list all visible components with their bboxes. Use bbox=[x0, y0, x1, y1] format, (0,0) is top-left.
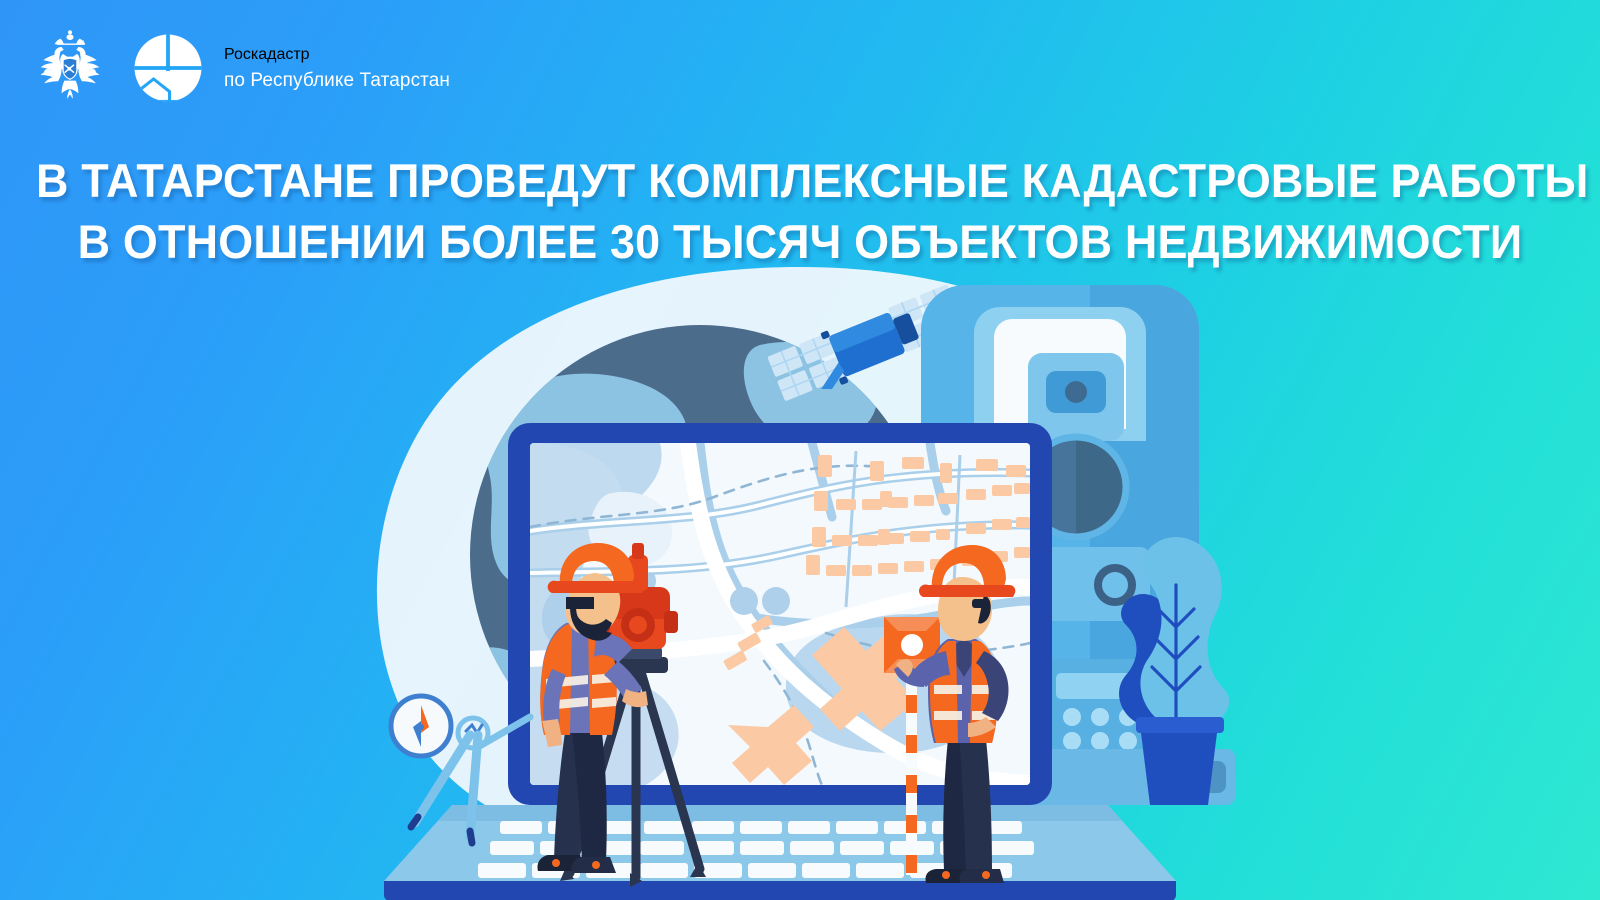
brand-logo: Роскадастр по Республике Татарстан bbox=[28, 26, 450, 110]
laptop-base bbox=[384, 805, 1176, 900]
brand-title: Роскадастр bbox=[224, 46, 450, 64]
brand-text: Роскадастр по Республике Татарстан bbox=[224, 46, 450, 90]
brand-subtitle: по Республике Татарстан bbox=[224, 71, 450, 90]
double-headed-eagle-emblem-icon bbox=[28, 26, 112, 110]
compass-icon bbox=[391, 696, 451, 756]
headline-line-1: В ТАТАРСТАНЕ ПРОВЕДУТ КОМПЛЕКСНЫЕ КАДАСТ… bbox=[36, 150, 1564, 211]
hero-illustration bbox=[0, 255, 1600, 900]
roskadastr-circle-house-icon bbox=[130, 30, 206, 106]
page-title: В ТАТАРСТАНЕ ПРОВЕДУТ КОМПЛЕКСНЫЕ КАДАСТ… bbox=[0, 150, 1600, 272]
